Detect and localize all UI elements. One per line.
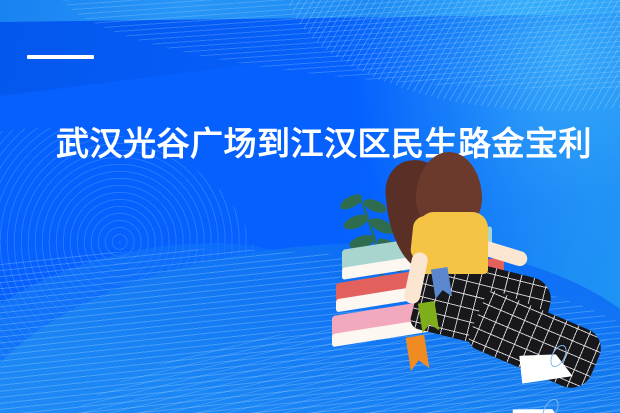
- figure-shoe-lower: [509, 407, 568, 413]
- illustration: [320, 160, 620, 413]
- orange-bookmark-icon: [405, 335, 429, 372]
- promo-banner: 武汉光谷广场到江汉区民生路金宝利: [0, 0, 620, 413]
- page-title: 武汉光谷广场到江汉区民生路金宝利: [56, 123, 576, 165]
- shoe-lace-lower: [539, 396, 562, 413]
- accent-rule: [27, 55, 94, 59]
